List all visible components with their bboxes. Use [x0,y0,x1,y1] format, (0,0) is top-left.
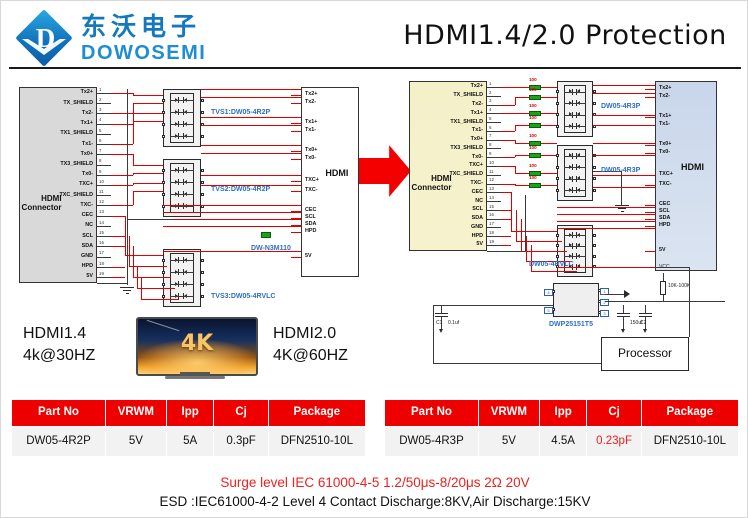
die-trace [170,112,194,113]
pin-stub [97,93,111,94]
connector-name: HDMI Connector [21,194,62,212]
tvs-pad [162,283,165,286]
table-header-cj: Cj [214,400,268,427]
tvs-pad [556,90,559,93]
hdmi-out-stub [645,226,655,227]
hdmi-out-label-scl: SCL [659,209,670,214]
die-trace [170,194,194,195]
connector-pin-number: 7 [99,149,101,153]
tvs-pad [162,271,165,274]
hdmi-out-stub [291,191,301,192]
hdmi-out-stub [291,103,301,104]
logo-dw-letter: D [15,9,73,67]
hdmi-out-stub [645,219,655,220]
hdmi-out-label-sda: SDA [659,216,670,221]
hdmi-out-label-tx0-: Tx0- [659,150,670,155]
die-trace [564,167,586,168]
brand-name-chinese: 东沃电子 [81,15,201,40]
hdmi-out-stub [645,153,655,154]
ground-symbol-main [120,287,134,296]
connector-pin-label-hpd: HPD [419,234,483,239]
connector-pin-label-tx2-: Tx2+ [419,84,483,89]
connector-pin-label-sda: SDA [29,244,93,249]
connector-pin-number: 2 [99,98,101,102]
dowosemi-logo: D [15,9,75,67]
device-label-tvs1: DW05-4R3P [601,103,640,110]
hdmi-out-stub [645,97,655,98]
connector-pin-number: 19 [489,240,494,244]
die-trace [564,235,586,236]
series-resistor-2 [529,95,541,100]
table-cell-part-no: DW05-4R2P [12,426,106,456]
table-header-part-no: Part No [385,400,479,427]
table-header-row: Part NoVRWMIppCjPackage [12,400,366,427]
hdmi-out-stub [291,123,301,124]
connector-pin-label-tx1-: Tx1- [29,142,93,147]
pin-stub [487,227,501,228]
hdmi-out-label-hpd: HPD [305,229,316,234]
4k-tv-image: 4K [136,317,254,379]
hdmi-out-label-tx1-: Tx1- [659,122,670,127]
connector-pin-label-5v: 5V [29,274,93,279]
hdmi-out-label-5v: 5V [659,248,666,253]
series-resistor-6 [529,153,541,158]
chip-pin-number: 4 [544,289,553,296]
connector-pin-number: 10 [99,180,104,184]
datasheet-page: D 东沃电子 DOWOSEMI HDMI1.4/2.0 Protection T… [0,0,748,518]
device-label-tvs1: TVS1:DW05-4R2P [211,109,270,116]
connector-pin-label-txc-: TXC+ [29,182,93,187]
die-trace [170,124,194,125]
hdmi-out-label-tx0-: Tx0+ [659,142,671,147]
tvs-pad [593,234,596,237]
tvs-pad [593,102,596,105]
table-header-cj: Cj [587,400,641,427]
chip-pin-number: 3 [600,310,609,317]
connector-pin-number: 14 [489,196,494,200]
gnd-bar [120,287,134,288]
surge-level-note: Surge level IEC 61000-4-5 1.2/50μs-8/20μ… [1,475,748,491]
device-label-tvs2: DW05-4R3P [601,167,640,174]
connector-pin-label-tx0-: Tx0+ [29,152,93,157]
table-cell-package: DFN2510-10L [268,426,365,456]
table-cell-ipp: 5A [166,426,214,456]
pin-stub [97,144,111,145]
hdmi-out-stub [291,181,301,182]
hdmi-out-label-tx2-: Tx2+ [305,92,317,97]
table-row: DW05-4R2P5V5A0.3pFDFN2510-10L [12,426,366,456]
tvs-pad [556,234,559,237]
connector-pin-label-tx-shield: TX_SHIELD [29,101,93,106]
connector-pin-number: 2 [489,91,491,95]
hdmi-out-stub [645,251,655,252]
tvs-pad [201,111,204,114]
pin-stub [97,257,111,258]
hdmi-out-stub [645,125,655,126]
pin-stub [97,175,111,176]
table-cell-vrwm: 5V [478,426,539,456]
pin-stub [487,157,501,158]
hdmi-out-label-txc-: TXC- [305,188,318,193]
die-trace [564,103,586,104]
pin-stub [97,236,111,237]
connector-pin-label-tx1-: Tx1- [419,128,483,133]
die-trace [564,92,586,93]
resistor-value-label: 100 [529,78,537,83]
pin-stub [487,219,501,220]
die-trace [564,190,586,191]
die-trace [170,206,194,207]
tvs-pad [201,169,204,172]
tvs-pad [556,189,559,192]
die-trace [564,179,586,180]
pin-stub [487,96,501,97]
connector-pin-label-hpd: HPD [29,264,93,269]
tvs-pad [201,99,204,102]
hdmi-out-stub [291,232,301,233]
device-label-dwp25151t5: DWP25151T5 [549,321,593,328]
die-trace [564,246,586,247]
page-title: HDMI1.4/2.0 Protection [391,21,739,51]
connector-pin-number: 11 [489,170,494,174]
connector-pin-label-tx2-: Tx2- [419,102,483,107]
hdmi-out-label-tx0-: Tx0- [305,156,316,161]
hdmi-out-stub [645,89,655,90]
resistor-value-label: 100 [529,134,537,139]
table-header-part-no: Part No [12,400,106,427]
pin-stub [487,105,501,106]
connector-pin-number: 6 [489,126,491,130]
tvs-pad [162,259,165,262]
gnd-bar [126,293,129,294]
pullup-resistor [660,281,666,295]
table-header-package: Package [268,400,365,427]
die-trace [170,296,194,297]
connector-pin-number: 4 [489,108,491,112]
connector-pin-label-tx-shield: TX_SHIELD [419,93,483,98]
cap-ground-arrow [439,329,443,333]
connector-pin-number: 10 [489,161,494,165]
connector-pin-number: 17 [489,222,494,226]
connector-pin-number: 9 [99,170,101,174]
hdmi-out-label-tx1-: Tx1+ [659,114,671,119]
hdmi-out-stub [291,211,301,212]
pin-stub [97,195,111,196]
connector-pin-number: 12 [489,178,494,182]
enable-arrow-icon [624,290,630,298]
connector-pin-number: 9 [489,152,491,156]
die-trace [170,100,194,101]
tvs-pad [556,154,559,157]
tvs-pad [556,113,559,116]
pin-stub [97,124,111,125]
connector-pin-number: 14 [99,221,104,225]
pin-stub [487,131,501,132]
tvs-package-2 [557,145,593,201]
hdmi-out-label-cec: CEC [305,208,316,213]
pin-stub [97,277,111,278]
tvs-pad [593,244,596,247]
resistor-value-label: 100 [529,176,537,181]
gnd-bar [618,208,626,209]
hdmi-out-stub [291,225,301,226]
connector-pin-label-tx1-: Tx1+ [419,111,483,116]
dwp25151t5-chip: 12345 [553,283,599,317]
connector-pin-number: 3 [489,99,491,103]
hdmi-out-stub [645,205,655,206]
connector-pin-label-txc-: TXC+ [419,163,483,168]
gnd-bar [621,211,624,212]
right-spec-table: Part NoVRWMIppCjPackageDW05-4R3P5V4.5A0.… [384,399,739,457]
cap-plate [617,313,630,314]
connector-pin-number: 4 [99,118,101,122]
right-schematic: Tx2+1TX_SHIELD2Tx2-3Tx1+4TX1_SHIELD5Tx1-… [405,75,745,385]
pin-stub [97,185,111,186]
hdmi-out-stub [645,117,655,118]
tvs-pad [556,166,559,169]
tvs-pad [162,169,165,172]
connector-pin-label-gnd: GND [29,254,93,259]
tvs-pad [162,193,165,196]
pin-stub [487,148,501,149]
die-trace [564,156,586,157]
die-trace [564,115,586,116]
pin-stub [97,226,111,227]
hdmi-out-stub [645,175,655,176]
hdmi-out-label-tx1-: Tx1- [305,128,316,133]
hdmi-out-stub [291,159,301,160]
header-divider [9,67,741,69]
connector-pin-number: 1 [99,88,101,92]
tvs-pad [162,135,165,138]
connector-pin-number: 18 [489,231,494,235]
series-resistor-4 [529,123,541,128]
connector-pin-label-tx3-shield: TX3_SHIELD [29,162,93,167]
pin-stub [97,267,111,268]
tvs-pad [556,125,559,128]
connector-pin-number: 6 [99,139,101,143]
connector-pin-number: 8 [99,159,101,163]
resistor-value-label: 100 [529,104,537,109]
tvs-pad [556,244,559,247]
hdmi-out-label-txc-: TXC+ [659,172,673,177]
connector-pin-number: 16 [489,213,494,217]
device-label-tvs3-rvlc: DW05-4RVLC [529,261,574,268]
tvs-pad [593,189,596,192]
hdmi-out-label-scl: SCL [305,215,316,220]
connector-pin-number: 18 [99,262,104,266]
hdmi-out-label-cec: CEC [659,202,670,207]
die-trace [170,272,194,273]
resistor-value-label: 100 [529,116,537,121]
tvs-pad [593,166,596,169]
brand-name-english: DOWOSEMI [81,43,206,63]
hdmi-out-label-txc-: TXC+ [305,178,319,183]
hdmi-out-label-tx0-: Tx0+ [305,148,317,153]
transition-arrow-icon [359,144,411,198]
hdmi-out-stub [291,218,301,219]
pin-stub [487,245,501,246]
table-cell-cj: 0.3pF [214,426,268,456]
connector-pin-number: 16 [99,241,104,245]
tv-4k-badge: 4K [138,333,256,355]
tv-base [165,376,225,379]
pin-stub [487,166,501,167]
pin-stub [487,201,501,202]
device-label-tvs2: TVS2:DW05-4R2P [211,186,270,193]
tvs-pad [162,123,165,126]
die-trace [564,256,586,257]
tvs-pad [556,255,559,258]
gnd-bar [615,205,629,206]
connector-pin-label-tx1-shield: TX1_SHIELD [419,120,483,125]
table-header-ipp: Ipp [166,400,214,427]
table-cell-ipp: 4.5A [539,426,587,456]
tvs-pad [593,255,596,258]
connector-pin-number: 19 [99,272,104,276]
hdmi-out-stub [645,212,655,213]
hdmi-out-stub [291,257,301,258]
connector-pin-label-tx2-: Tx2- [29,111,93,116]
pin-stub [97,216,111,217]
table-header-row: Part NoVRWMIppCjPackage [385,400,739,427]
esd-level-note: ESD :IEC61000-4-2 Level 4 Contact Discha… [1,494,748,510]
cap-ground-arrow [643,329,647,333]
pin-stub [97,103,111,104]
connector-pin-label-tx1-: Tx1+ [29,121,93,126]
connector-pin-number: 7 [489,134,491,138]
tvs-package-2 [163,159,201,217]
hdmi-out-label-tx2-: Tx2- [305,100,316,105]
connector-pin-number: 12 [99,200,104,204]
device-label-tvs3: TVS3:DW05-4RVLC [211,293,275,300]
connector-name: HDMI Connector [411,174,452,192]
chip-pin-number: 5 [544,307,553,314]
capacitor-ref-c2: C2 [640,321,646,326]
capacitor-value-c1: 0.1uf [448,321,459,326]
tvs-pad [201,283,204,286]
connector-pin-label-nc: NC [419,199,483,204]
connector-pin-number: 13 [489,187,494,191]
device-label-dw-n3m110: DW-N3M110 [251,245,291,252]
resistor-value-label: 100 [529,164,537,169]
tvs-pad [162,295,165,298]
die-trace [564,126,586,127]
pin-stub [487,184,501,185]
die-trace [170,260,194,261]
left-schematic: Tx2+1TX_SHIELD2Tx2-3Tx1+4TX1_SHIELD5Tx1-… [15,81,355,311]
connector-pin-number: 15 [489,205,494,209]
tvs-pad [201,193,204,196]
connector-pin-label-cec: CEC [29,213,93,218]
connector-pin-label-sda: SDA [419,216,483,221]
hdmi-output-name: HDMI [681,163,704,172]
connector-pin-label-tx0-: Tx0+ [419,137,483,142]
table-cell-package: DFN2510-10L [641,426,738,456]
die-trace [170,170,194,171]
capacitor-ref-c1: C1 [436,321,442,326]
hdmi-out-stub [291,131,301,132]
tvs-package-1 [557,81,593,137]
hdmi-out-label-tx2-: Tx2- [659,94,670,99]
die-trace [170,284,194,285]
hdmi-out-label-tx2-: Tx2+ [659,86,671,91]
table-row: DW05-4R3P5V4.5A0.23pFDFN2510-10L [385,426,739,456]
cap-plate [639,313,652,314]
hdmi-out-stub [291,151,301,152]
hdmi-out-label-hpd: HPD [659,223,670,228]
pin-stub [97,134,111,135]
tv-screen: 4K [136,317,258,376]
hdmi-out-stub [645,185,655,186]
table-header-vrwm: VRWM [478,400,539,427]
hdmi-out-stub [645,145,655,146]
connector-pin-label-nc: NC [29,223,93,228]
tvs-pad [201,135,204,138]
cap-ground-arrow [621,329,625,333]
tvs-pad [593,177,596,180]
resistor-value-label: 100 [529,88,537,93]
connector-pin-number: 15 [99,231,104,235]
pin-stub [487,210,501,211]
cap-plate [435,313,448,314]
connector-pin-number: 1 [489,82,491,86]
hdmi20-version-label: HDMI2.0 4K@60HZ [273,323,348,366]
table-cell-part-no: DW05-4R3P [385,426,479,456]
table-header-ipp: Ipp [539,400,587,427]
pin-stub [487,122,501,123]
connector-pin-label-5v: 5V [419,242,483,247]
resistor-value-label: 100 [529,146,537,151]
connector-pin-number: 5 [99,129,101,133]
table-header-package: Package [641,400,738,427]
connector-pin-label-tx3-shield: TX3_SHIELD [419,146,483,151]
hdmi14-version-label: HDMI1.4 4k@30HZ [23,323,95,366]
pullup-value-label: 10K-100K [668,284,690,289]
connector-pin-label-scl: SCL [419,207,483,212]
dw-n3m110-part [261,232,271,238]
tvs-pad [201,259,204,262]
connector-pin-label-tx0-: Tx0- [29,172,93,177]
connector-pin-label-tx1-shield: TX1_SHIELD [29,131,93,136]
hdmi-out-label-txc-: TXC- [659,182,672,187]
pin-stub [487,192,501,193]
pin-stub [97,246,111,247]
tvs-pad [556,177,559,180]
tvs-pad [162,99,165,102]
die-trace [170,182,194,183]
pin-stub [97,154,111,155]
connector-pin-label-gnd: GND [419,225,483,230]
table-cell-cj: 0.23pF [587,426,641,456]
connector-pin-label-tx2-: Tx2+ [29,90,93,95]
pin-stub [97,113,111,114]
tvs-pad [201,271,204,274]
pin-stub [487,175,501,176]
table-cell-vrwm: 5V [105,426,166,456]
tvs-pad [556,102,559,105]
pin-stub [97,165,111,166]
die-trace [170,136,194,137]
hdmi-out-label-5v: 5V [305,254,312,259]
left-spec-table: Part NoVRWMIppCjPackageDW05-4R2P5V5A0.3p… [11,399,366,457]
connector-pin-number: 5 [489,117,491,121]
series-resistor-8 [529,183,541,188]
ground-symbol-main [615,205,629,214]
hdmi-out-label-tx1-: Tx1+ [305,120,317,125]
connector-pin-label-scl: SCL [29,234,93,239]
processor-label: Processor [601,347,689,359]
